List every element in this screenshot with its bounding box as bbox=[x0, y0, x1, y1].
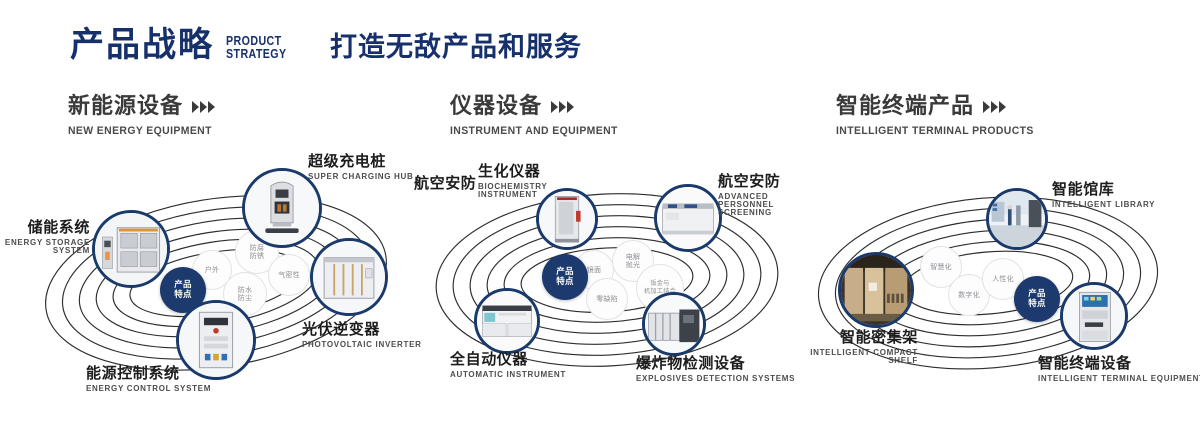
diagram-cluster-instrument: 镜面 电解 抛光 零缺陷 钣金与 机加工结合 产品 特点 bbox=[408, 160, 808, 410]
node-label-biochemistry-instrument: 生化仪器 BIOCHEMISTRY INSTRUMENT bbox=[478, 164, 564, 199]
node-label-intelligent-terminal-equipment: 智能终端设备 INTELLIGENT TERMINAL EQUIPMENT bbox=[1038, 356, 1200, 383]
node-circle-photovoltaic-inverter[interactable] bbox=[310, 238, 388, 316]
page-title-en: PRODUCT STRATEGY bbox=[226, 34, 287, 60]
section-title-en: INTELLIGENT TERMINAL PRODUCTS bbox=[836, 125, 1034, 137]
core-bubble: 产品 特点 bbox=[1014, 276, 1060, 322]
node-label-super-charging-hub: 超级充电桩 SUPER CHARGING HUB bbox=[308, 154, 414, 181]
node-circle-intelligent-library[interactable] bbox=[986, 188, 1048, 250]
section-header-instrument: 仪器设备 INSTRUMENT AND EQUIPMENT bbox=[450, 96, 627, 137]
node-circle-intelligent-compact-shelf[interactable] bbox=[838, 252, 914, 328]
node-circle-energy-storage[interactable] bbox=[92, 210, 170, 288]
page-title: 产品战略 PRODUCT STRATEGY bbox=[70, 28, 300, 62]
chevron-right-icon bbox=[192, 101, 215, 113]
page-title-cn: 产品战略 bbox=[70, 28, 214, 62]
page-title-en-line2: STRATEGY bbox=[226, 46, 287, 61]
section-header-intelligent-terminal: 智能终端产品 INTELLIGENT TERMINAL PRODUCTS bbox=[836, 96, 1044, 137]
feature-bubble: 气密性 bbox=[268, 254, 310, 296]
page-subtitle: 打造无敌产品和服务 bbox=[330, 34, 582, 61]
section-header-new-energy: 新能源设备 NEW ENERGY EQUIPMENT bbox=[68, 96, 219, 137]
node-label-energy-control-system: 能源控制系统 ENERGY CONTROL SYSTEM bbox=[86, 366, 211, 393]
node-label-explosives-detection-systems: 爆炸物检测设备 EXPLOSIVES DETECTION SYSTEMS bbox=[636, 356, 795, 383]
node-circle-automatic-instrument[interactable] bbox=[474, 288, 540, 354]
section-title-cn: 仪器设备 bbox=[450, 96, 542, 118]
node-circle-intelligent-terminal-equipment[interactable] bbox=[1060, 282, 1128, 350]
node-label-photovoltaic-inverter: 光伏逆变器 PHOTOVOLTAIC INVERTER bbox=[302, 322, 422, 349]
poster-canvas: 产品战略 PRODUCT STRATEGY 打造无敌产品和服务 新能源设备 NE… bbox=[0, 0, 1200, 422]
core-bubble: 产品 特点 bbox=[542, 254, 588, 300]
diagram-cluster-intelligent-terminal: 智慧化 数字化 人性化 产品 特点 bbox=[790, 160, 1190, 410]
feature-bubble: 零缺陷 bbox=[586, 278, 628, 320]
node-label-aviation-security-extra: 航空安防 bbox=[414, 176, 476, 191]
node-label-intelligent-library: 智能馆库 INTELLIGENT LIBRARY bbox=[1052, 182, 1155, 209]
chevron-right-icon bbox=[551, 101, 574, 113]
node-label-intelligent-compact-shelf: 智能密集架 INTELLIGENT COMPACT SHELF bbox=[784, 330, 918, 365]
section-title-cn: 新能源设备 bbox=[68, 96, 183, 118]
diagram-cluster-new-energy: 户外 防腐 防锈 防水 防尘 气密性 产品 特点 bbox=[20, 160, 420, 410]
chevron-right-icon bbox=[983, 101, 1006, 113]
section-title-cn: 智能终端产品 bbox=[836, 96, 974, 118]
node-circle-advanced-personnel-screening[interactable] bbox=[654, 184, 722, 252]
section-title-en: NEW ENERGY EQUIPMENT bbox=[68, 125, 212, 137]
node-label-energy-storage: 储能系统 ENERGY STORAGE SYSTEM bbox=[0, 220, 90, 255]
node-circle-explosives-detection-systems[interactable] bbox=[642, 292, 706, 356]
node-label-automatic-instrument: 全自动仪器 AUTOMATIC INSTRUMENT bbox=[450, 352, 566, 379]
section-title-en: INSTRUMENT AND EQUIPMENT bbox=[450, 125, 618, 137]
